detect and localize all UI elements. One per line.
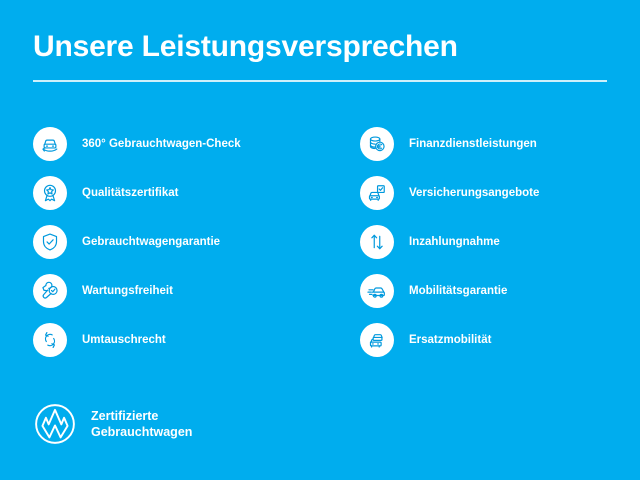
up-down-arrows-icon xyxy=(360,225,394,259)
feature-columns: 360° Gebrauchtwagen-Check Qualitätszerti… xyxy=(0,119,640,364)
page-title: Unsere Leistungsversprechen xyxy=(33,28,607,66)
feature-column-right: Finanzdienstleistungen Versicheru xyxy=(330,119,640,364)
feature-label: Finanzdienstleistungen xyxy=(409,137,537,151)
brand-line-1: Zertifizierte xyxy=(91,408,192,424)
feature-label: Mobilitätsgarantie xyxy=(409,284,507,298)
header-divider xyxy=(33,80,607,82)
feature-item[interactable]: Qualitätszertifikat xyxy=(33,168,330,217)
feature-label: Versicherungsangebote xyxy=(409,186,539,200)
feature-item[interactable]: Versicherungsangebote xyxy=(360,168,640,217)
feature-column-left: 360° Gebrauchtwagen-Check Qualitätszerti… xyxy=(0,119,330,364)
feature-item[interactable]: 360° Gebrauchtwagen-Check xyxy=(33,119,330,168)
feature-label: Ersatzmobilität xyxy=(409,333,491,347)
volkswagen-logo xyxy=(33,402,77,446)
car-motion-icon xyxy=(360,274,394,308)
exchange-arrows-icon xyxy=(33,323,67,357)
brand-line-2: Gebrauchtwagen xyxy=(91,424,192,440)
feature-label: Qualitätszertifikat xyxy=(82,186,179,200)
shield-check-icon xyxy=(33,225,67,259)
two-cars-icon xyxy=(360,323,394,357)
feature-item[interactable]: Gebrauchtwagengarantie xyxy=(33,217,330,266)
wrench-check-icon xyxy=(33,274,67,308)
feature-item[interactable]: Wartungsfreiheit xyxy=(33,266,330,315)
feature-label: Inzahlungnahme xyxy=(409,235,500,249)
feature-item[interactable]: Inzahlungnahme xyxy=(360,217,640,266)
award-rosette-icon xyxy=(33,176,67,210)
feature-label: 360° Gebrauchtwagen-Check xyxy=(82,137,241,151)
car-360-check-icon xyxy=(33,127,67,161)
promise-poster: Unsere Leistungsversprechen 360° Gebrauc xyxy=(0,0,640,480)
feature-item[interactable]: Finanzdienstleistungen xyxy=(360,119,640,168)
feature-label: Umtauschrecht xyxy=(82,333,166,347)
brand-text: Zertifizierte Gebrauchtwagen xyxy=(91,408,192,440)
feature-item[interactable]: Umtauschrecht xyxy=(33,315,330,364)
feature-label: Gebrauchtwagengarantie xyxy=(82,235,220,249)
header: Unsere Leistungsversprechen xyxy=(33,28,607,82)
feature-item[interactable]: Ersatzmobilität xyxy=(360,315,640,364)
feature-label: Wartungsfreiheit xyxy=(82,284,173,298)
car-insurance-document-icon xyxy=(360,176,394,210)
coins-euro-icon xyxy=(360,127,394,161)
brand-lockup: Zertifizierte Gebrauchtwagen xyxy=(33,402,192,446)
feature-item[interactable]: Mobilitätsgarantie xyxy=(360,266,640,315)
